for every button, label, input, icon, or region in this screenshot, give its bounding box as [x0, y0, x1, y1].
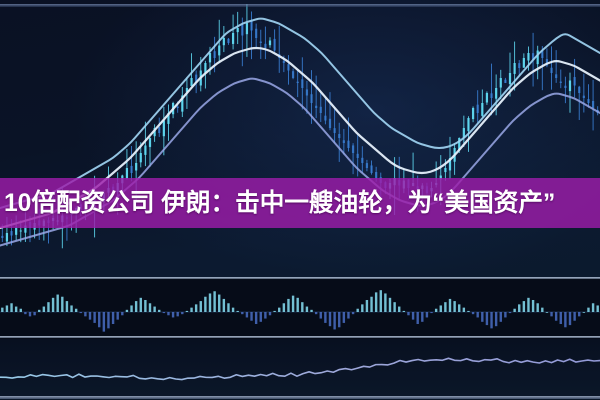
- price-chart-svg: [0, 0, 600, 278]
- trend-line-svg: [0, 339, 600, 400]
- macd-histogram-svg: [0, 280, 600, 336]
- headline-text: 10倍配资公司 伊朗：击中一艘油轮，为“美国资产”: [0, 178, 555, 228]
- divider-top: [0, 4, 600, 7]
- divider-below-macd: [0, 336, 600, 338]
- macd-histogram-panel: [0, 280, 600, 336]
- screenshot-root: 10倍配资公司 伊朗：击中一艘油轮，为“美国资产”: [0, 0, 600, 400]
- price-chart-panel: [0, 0, 600, 278]
- divider-above-macd: [0, 277, 600, 279]
- headline-banner: 10倍配资公司 伊朗：击中一艘油轮，为“美国资产”: [0, 178, 600, 228]
- trend-line-panel: [0, 339, 600, 400]
- divider-bottom: [0, 396, 600, 399]
